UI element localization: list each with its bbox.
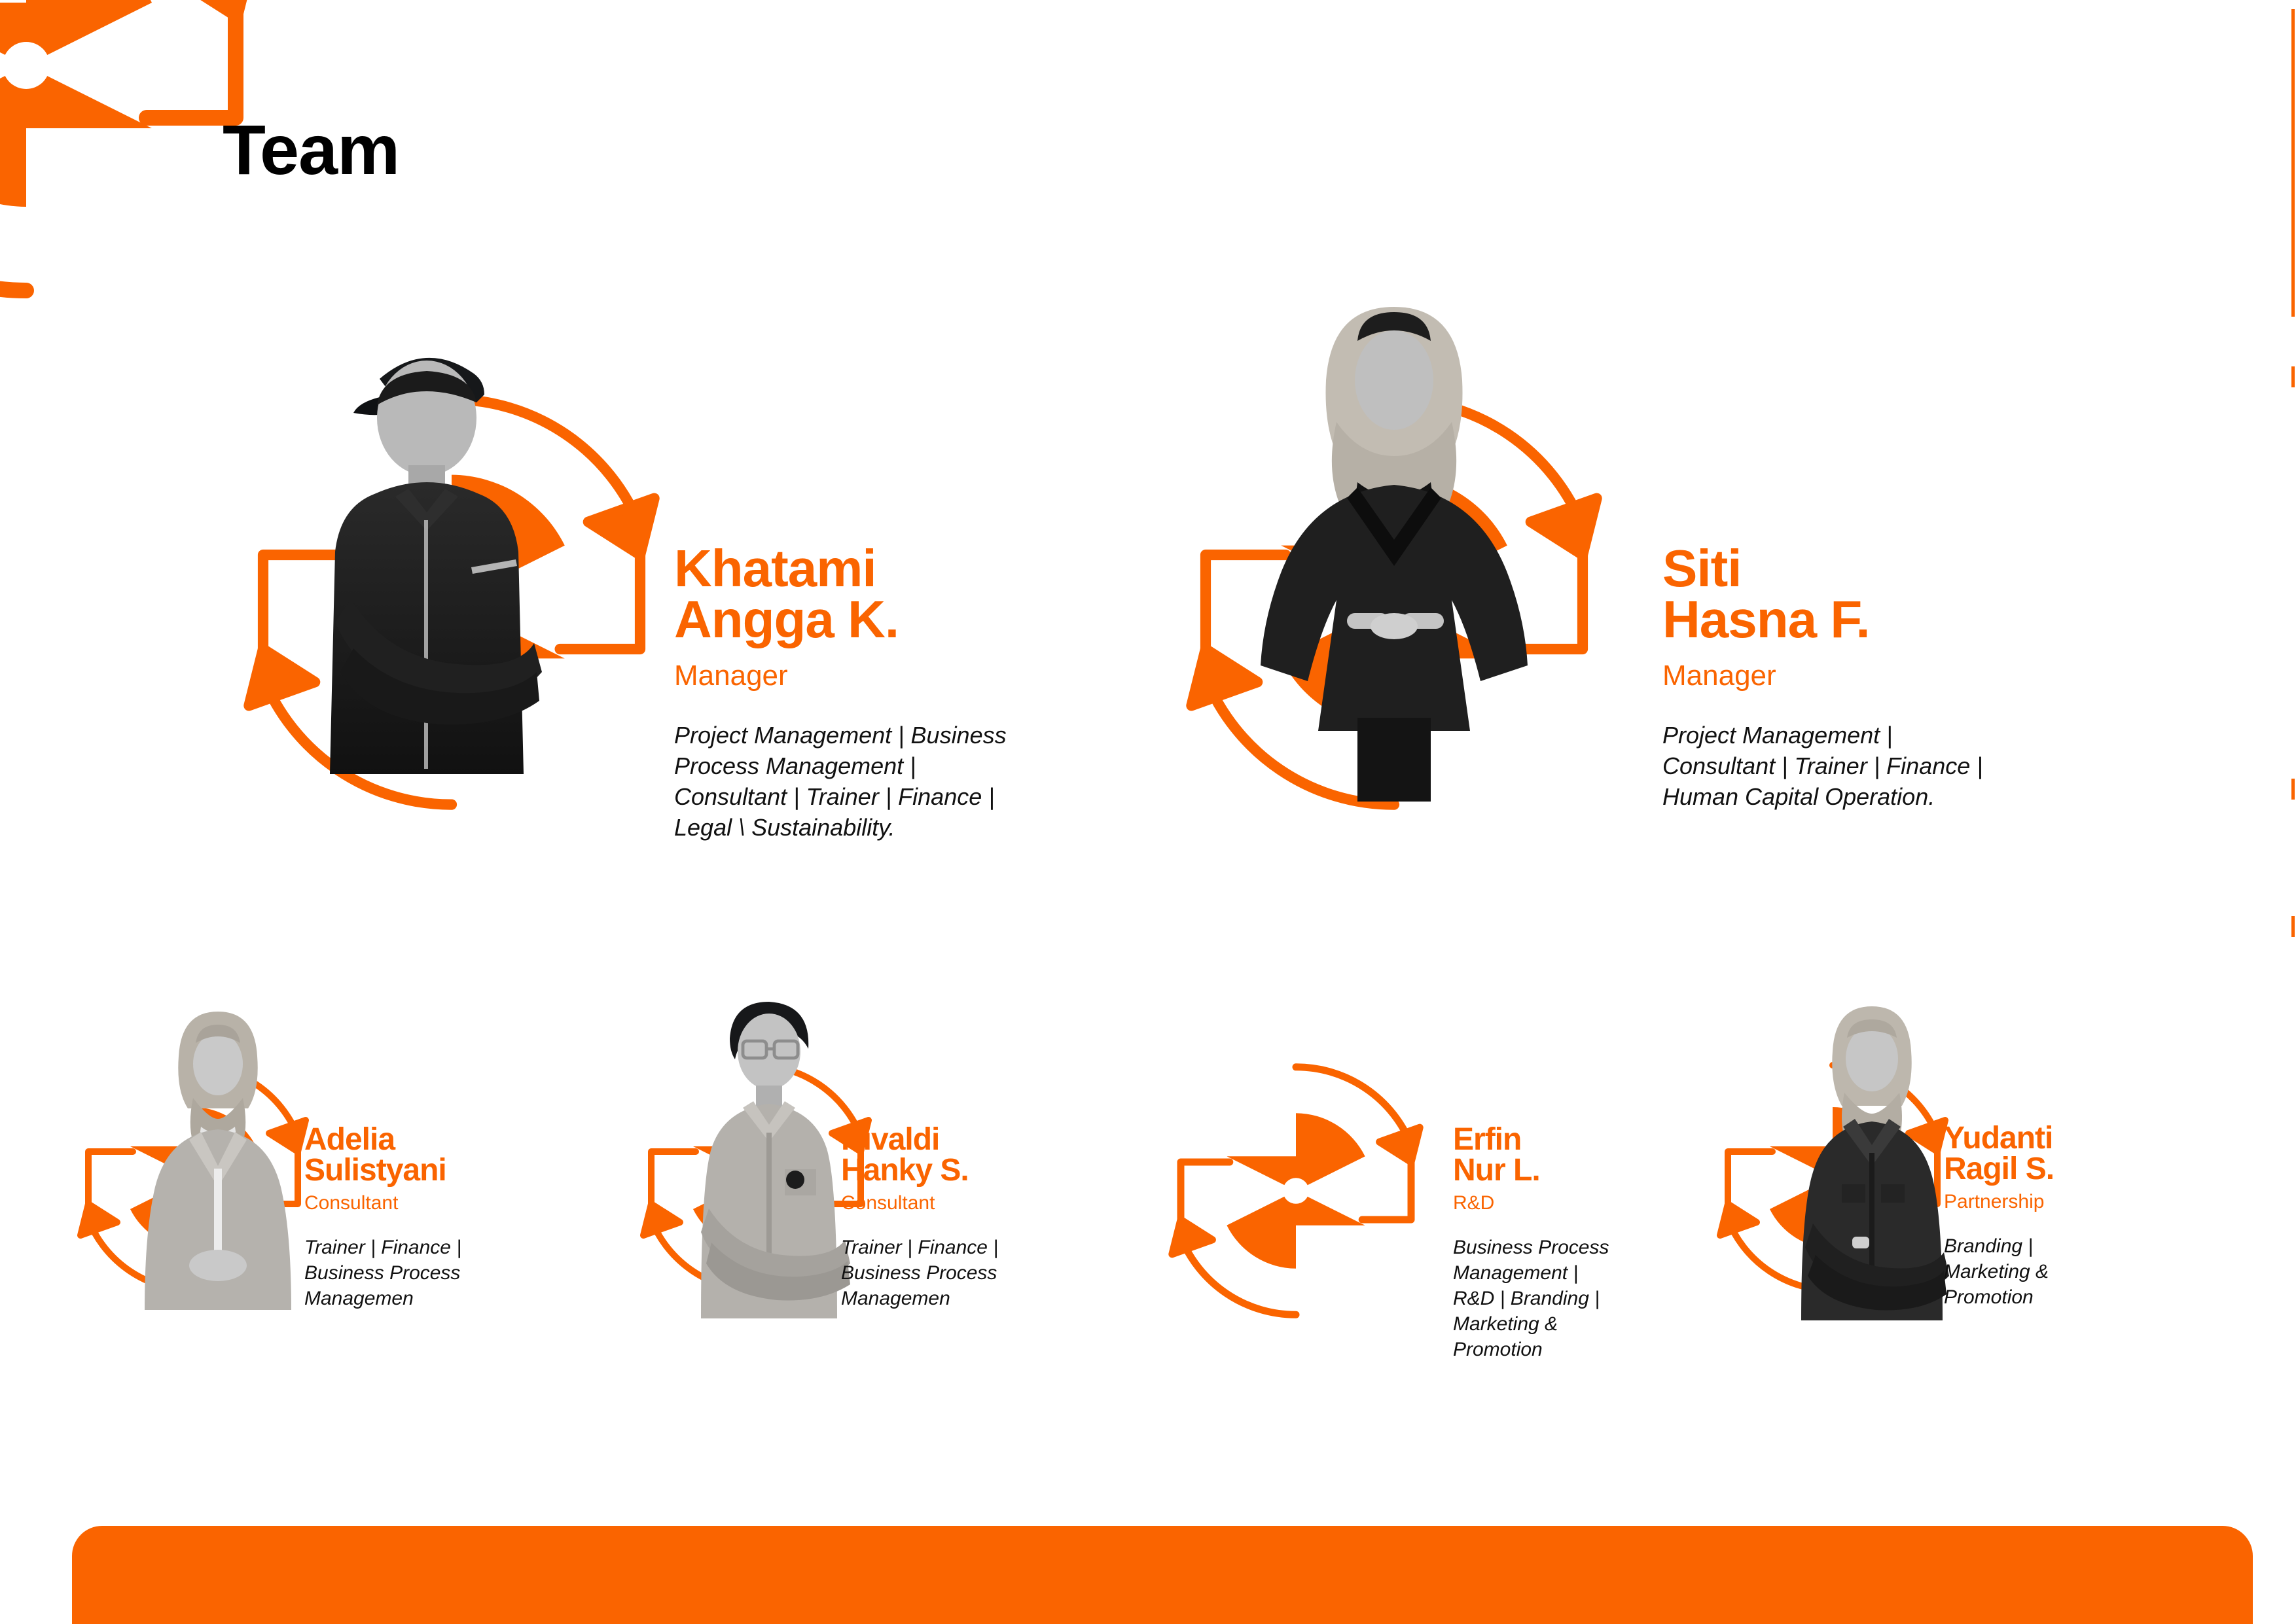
footer-bar bbox=[72, 1526, 2253, 1624]
photo-yudanti-ragil-s bbox=[1774, 967, 1970, 1320]
edge-accent-tick-2 bbox=[2291, 779, 2295, 800]
member-skills: Trainer | Finance | Business Process Man… bbox=[841, 1235, 1116, 1311]
member-skills: Project Management | Business Process Ma… bbox=[674, 720, 1158, 843]
member-card-siti-hasna-f: Siti Hasna F. Manager Project Management… bbox=[1158, 366, 2271, 838]
page-title: Team bbox=[223, 115, 399, 185]
member-card-yudanti-ragil-s: Yudanti Ragil S. Partnership Branding | … bbox=[1702, 1047, 2265, 1348]
member-card-rivaldi-hanky-s: Rivaldi Hanky S. Consultant Trainer | Fi… bbox=[625, 1047, 1162, 1348]
member-skills: Branding | Marketing & Promotion bbox=[1944, 1233, 2206, 1310]
member-name: Siti Hasna F. bbox=[1662, 543, 2147, 646]
member-role: Consultant bbox=[304, 1192, 579, 1214]
member-name: Rivaldi Hanky S. bbox=[841, 1124, 1116, 1186]
member-skills: Project Management | Consultant | Traine… bbox=[1662, 720, 2147, 812]
member-skills: Business Process Management | R&D | Bran… bbox=[1453, 1235, 1715, 1362]
member-info: Siti Hasna F. Manager Project Management… bbox=[1662, 543, 2147, 813]
member-info: Rivaldi Hanky S. Consultant Trainer | Fi… bbox=[841, 1124, 1116, 1311]
photo-khatami-angga-k bbox=[288, 311, 563, 795]
member-role: R&D bbox=[1453, 1192, 1715, 1214]
member-skills: Trainer | Finance | Business Process Man… bbox=[304, 1235, 579, 1311]
member-info: Khatami Angga K. Manager Project Managem… bbox=[674, 543, 1158, 843]
member-card-erfin-nur-l: Erfin Nur L. R&D Business Process Manage… bbox=[1152, 1047, 1689, 1374]
slide-canvas: Team bbox=[0, 0, 2296, 1623]
photo-adelia-sulistyani bbox=[120, 970, 316, 1310]
member-info: Yudanti Ragil S. Partnership Branding | … bbox=[1944, 1123, 2206, 1310]
member-role: Manager bbox=[1662, 660, 2147, 692]
member-name: Adelia Sulistyani bbox=[304, 1124, 579, 1186]
member-name: Erfin Nur L. bbox=[1453, 1124, 1715, 1186]
member-role: Consultant bbox=[841, 1192, 1116, 1214]
member-card-khatami-angga-k: Khatami Angga K. Manager Project Managem… bbox=[216, 366, 1198, 838]
photo-siti-hasna-f bbox=[1211, 226, 1577, 802]
member-name: Khatami Angga K. bbox=[674, 543, 1158, 646]
edge-accent-line bbox=[2291, 9, 2295, 317]
edge-accent-tick-1 bbox=[2291, 366, 2295, 387]
member-role: Partnership bbox=[1944, 1191, 2206, 1212]
member-name: Yudanti Ragil S. bbox=[1944, 1123, 2206, 1184]
member-info: Erfin Nur L. R&D Business Process Manage… bbox=[1453, 1124, 1715, 1362]
member-role: Manager bbox=[674, 660, 1158, 692]
edge-accent-tick-3 bbox=[2291, 916, 2295, 937]
logo-placeholder-erfin-nur-l bbox=[1152, 1047, 1440, 1335]
member-info: Adelia Sulistyani Consultant Trainer | F… bbox=[304, 1124, 579, 1311]
member-card-adelia-sulistyani: Adelia Sulistyani Consultant Trainer | F… bbox=[62, 1047, 625, 1348]
